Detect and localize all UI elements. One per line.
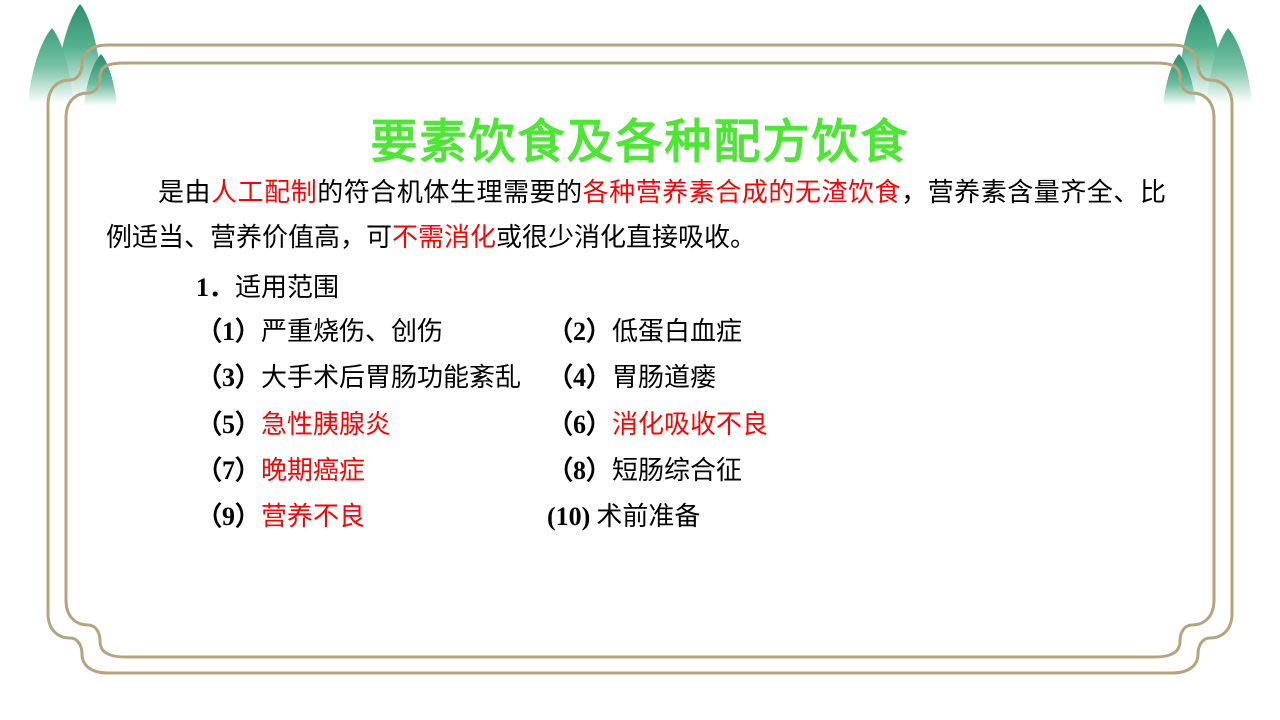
list-row: （3） 大手术后胃肠功能紊乱 （4） 胃肠道瘘 — [196, 355, 1202, 401]
list-item: （8） 短肠综合征 — [547, 448, 742, 494]
list-item-number: （3） — [196, 355, 261, 401]
scope-item-list: （1） 严重烧伤、创伤 （2） 低蛋白血症 （3） 大手术后胃肠功能紊乱 （4）… — [78, 309, 1202, 540]
para-segment-4: 或很少消化直接吸收。 — [496, 223, 756, 252]
list-item: （9） 营养不良 — [196, 494, 547, 540]
list-item-number: （5） — [196, 402, 261, 448]
list-item: （4） 胃肠道瘘 — [547, 355, 716, 401]
list-item: （6） 消化吸收不良 — [547, 402, 768, 448]
list-item: （7） 晚期癌症 — [196, 448, 547, 494]
para-segment-1: 是由 — [158, 178, 211, 207]
list-item-label: 消化吸收不良 — [612, 402, 768, 448]
list-item-number: （8） — [547, 448, 612, 494]
para-highlight-2: 各种营养素合成的无渣饮食 — [583, 178, 901, 207]
list-item: （1） 严重烧伤、创伤 — [196, 309, 547, 355]
list-item-number: （2） — [547, 309, 612, 355]
page-title: 要素饮食及各种配方饮食 — [78, 96, 1202, 170]
list-item-label: 严重烧伤、创伤 — [261, 309, 443, 355]
para-highlight-3: 不需消化 — [392, 223, 496, 252]
list-item-label: 急性胰腺炎 — [261, 402, 391, 448]
list-item-label: 胃肠道瘘 — [612, 355, 716, 401]
list-item: （2） 低蛋白血症 — [547, 309, 742, 355]
list-row: （5） 急性胰腺炎 （6） 消化吸收不良 — [196, 402, 1202, 448]
list-item-label: 大手术后胃肠功能紊乱 — [261, 355, 521, 401]
list-item: （3） 大手术后胃肠功能紊乱 — [196, 355, 547, 401]
list-item-number: （7） — [196, 448, 261, 494]
list-item-label: 术前准备 — [596, 494, 700, 540]
list-item: (10) 术前准备 — [547, 494, 700, 540]
list-row: （9） 营养不良 (10) 术前准备 — [196, 494, 1202, 540]
list-item-label: 短肠综合征 — [612, 448, 742, 494]
slide-canvas: 要素饮食及各种配方饮食 是由人工配制的符合机体生理需要的各种营养素合成的无渣饮食… — [0, 0, 1280, 720]
list-item-label: 低蛋白血症 — [612, 309, 742, 355]
section-heading: 1．适用范围 — [78, 267, 1202, 310]
list-row: （7） 晚期癌症 （8） 短肠综合征 — [196, 448, 1202, 494]
para-highlight-1: 人工配制 — [211, 178, 317, 207]
list-item: （5） 急性胰腺炎 — [196, 402, 547, 448]
list-item-number: （1） — [196, 309, 261, 355]
list-item-number: (10) — [547, 494, 590, 540]
list-item-number: （9） — [196, 494, 261, 540]
list-item-number: （4） — [547, 355, 612, 401]
section-number: 1． — [196, 273, 235, 302]
list-item-label: 营养不良 — [261, 494, 365, 540]
list-item-number: （6） — [547, 402, 612, 448]
slide-content: 要素饮食及各种配方饮食 是由人工配制的符合机体生理需要的各种营养素合成的无渣饮食… — [78, 96, 1202, 636]
section-title: 适用范围 — [235, 273, 339, 302]
list-row: （1） 严重烧伤、创伤 （2） 低蛋白血症 — [196, 309, 1202, 355]
para-segment-2: 的符合机体生理需要的 — [317, 178, 582, 207]
list-item-label: 晚期癌症 — [261, 448, 365, 494]
intro-paragraph: 是由人工配制的符合机体生理需要的各种营养素合成的无渣饮食，营养素含量齐全、比例适… — [78, 170, 1202, 260]
